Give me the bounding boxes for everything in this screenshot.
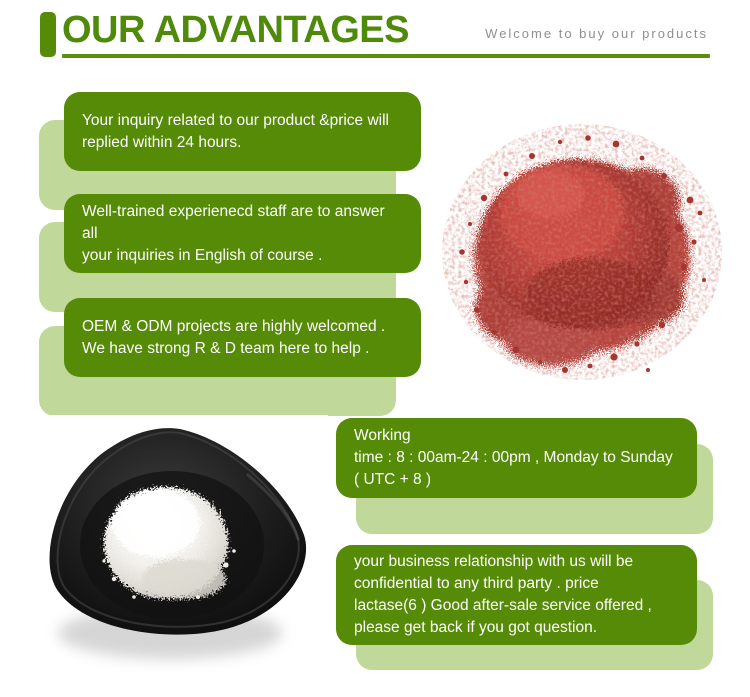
white-powder-photo <box>38 415 328 673</box>
header-accent-bar <box>40 12 56 57</box>
advantage-text: OEM & ODM projects are highly welcomed .… <box>64 316 403 360</box>
header-divider <box>62 54 710 58</box>
detail-item-working-time: Working time : 8 : 00am-24 : 00pm , Mond… <box>336 418 736 548</box>
advantages-page: OUR ADVANTAGES Welcome to buy our produc… <box>0 0 750 697</box>
advantage-bubble: Your inquiry related to our product &pri… <box>64 92 421 171</box>
red-powder-photo <box>432 82 732 404</box>
advantage-text: Your inquiry related to our product &pri… <box>64 110 407 154</box>
page-header: OUR ADVANTAGES Welcome to buy our produc… <box>0 0 750 72</box>
detail-item-confidentiality: your business relationship with us will … <box>336 545 736 685</box>
header-subtitle: Welcome to buy our products <box>485 26 708 41</box>
detail-bubble: Working time : 8 : 00am-24 : 00pm , Mond… <box>336 418 697 498</box>
advantage-item-3: OEM & ODM projects are highly welcomed .… <box>39 298 439 418</box>
detail-bubble: your business relationship with us will … <box>336 545 697 645</box>
page-title: OUR ADVANTAGES <box>62 8 409 53</box>
advantage-text: Well-trained experienecd staff are to an… <box>64 201 421 267</box>
advantage-bubble: OEM & ODM projects are highly welcomed .… <box>64 298 421 377</box>
working-time-text: Working time : 8 : 00am-24 : 00pm , Mond… <box>336 425 691 491</box>
advantage-bubble: Well-trained experienecd staff are to an… <box>64 194 421 273</box>
advantage-item-2: Well-trained experienecd staff are to an… <box>39 194 439 314</box>
confidentiality-text: your business relationship with us will … <box>336 551 670 639</box>
